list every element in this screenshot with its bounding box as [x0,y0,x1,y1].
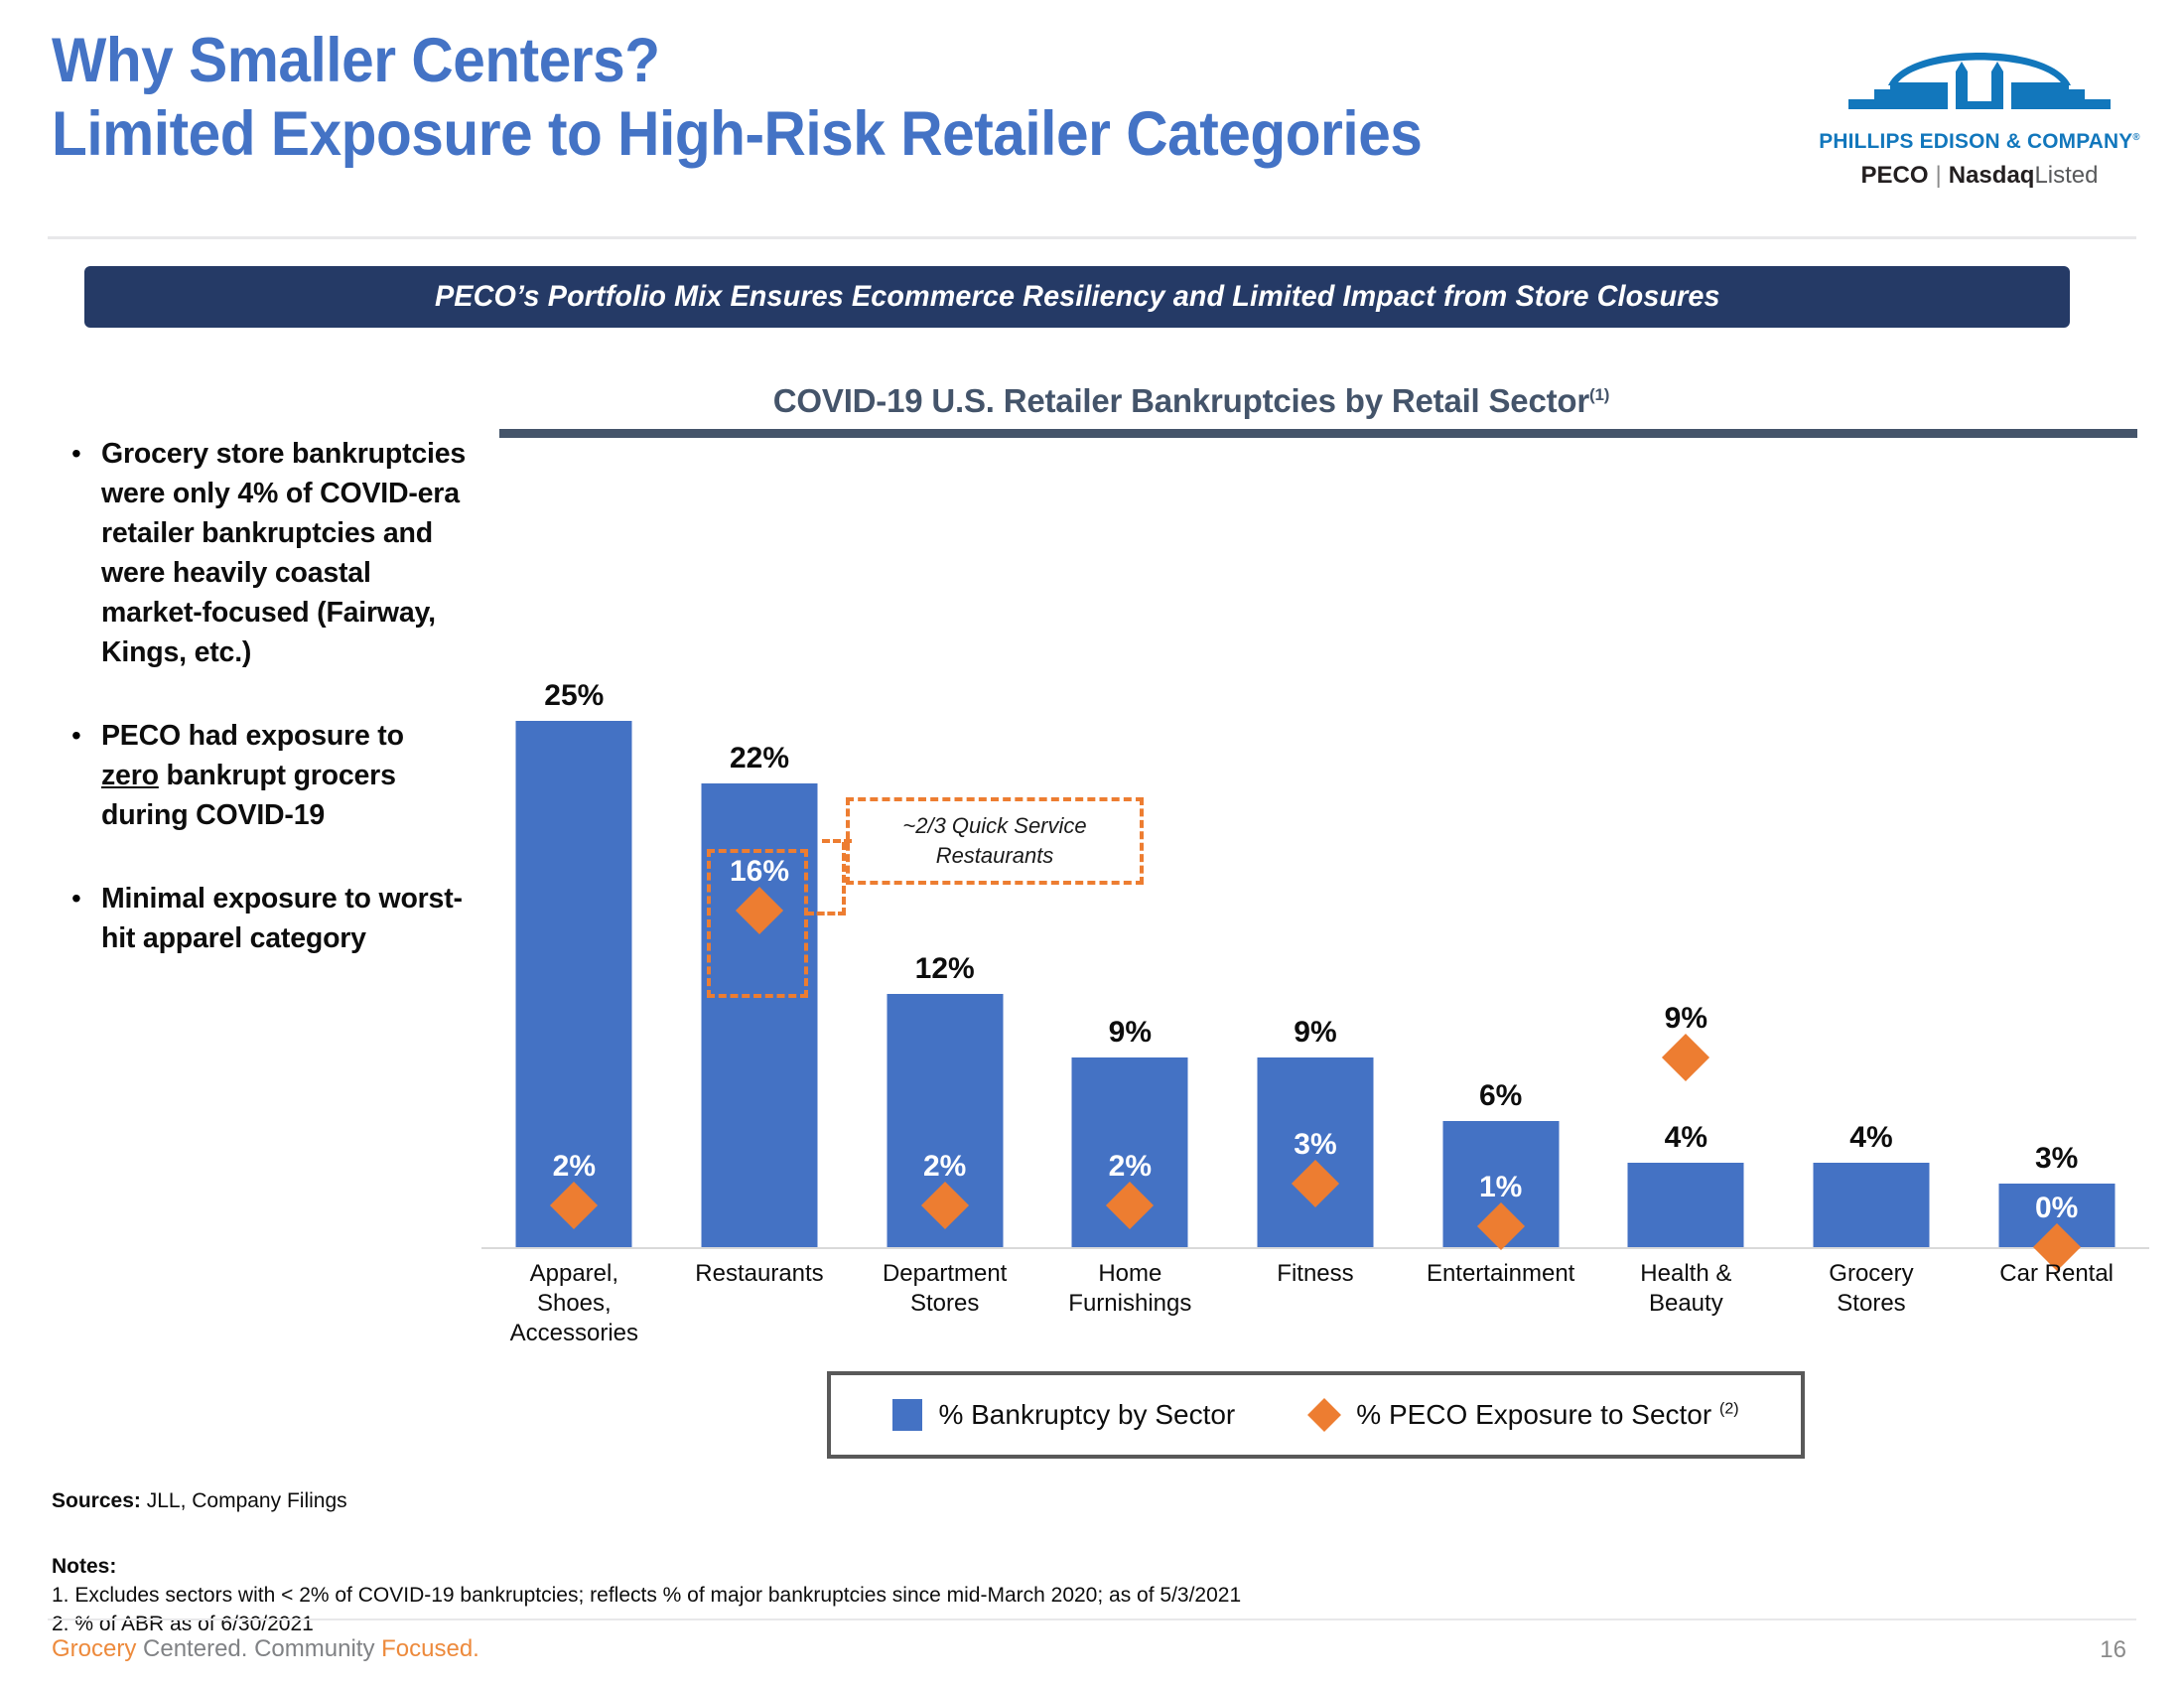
bar-value-label: 6% [1479,1079,1522,1113]
chart-column: 4% [1779,447,1965,1247]
bullet-text-3: Minimal exposure to worst-hit apparel ca… [101,879,469,958]
annotation-callout: ~2/3 Quick Service Restaurants [846,797,1144,885]
logo-wordmark-text: PHILLIPS EDISON & COMPANY [1819,129,2132,153]
sources-line: Sources: JLL, Company Filings [52,1489,347,1513]
exposure-value-label: 1% [1479,1171,1522,1204]
x-axis-category-labels: Apparel,Shoes,AccessoriesRestaurantsDepa… [481,1259,2149,1368]
chart-title: COVID-19 U.S. Retailer Bankruptcies by R… [496,382,1886,420]
annotation-connector-segment-1 [806,912,846,915]
chart-column: 22%16% [667,447,853,1247]
x-axis-category-label: GroceryStores [1779,1259,1965,1319]
exposure-value-label: 2% [1109,1150,1152,1184]
bar-value-label: 4% [1849,1121,1892,1155]
legend-label-peco-text: % PECO Exposure to Sector [1356,1399,1711,1430]
x-axis-category-label: Health &Beauty [1593,1259,1779,1319]
chart-column: 25%2% [481,447,667,1247]
exposure-value-label: 3% [1294,1128,1336,1162]
legend-item-peco-exposure: % PECO Exposure to Sector (2) [1308,1399,1738,1431]
bullet-point-icon: • [71,716,101,835]
bullet-text-1: Grocery store bankruptcies were only 4% … [101,434,469,672]
sources-value: JLL, Company Filings [141,1489,347,1512]
bar-value-label: 9% [1109,1016,1152,1050]
chart-column: 6%1% [1408,447,1593,1247]
legend-label-peco-exposure: % PECO Exposure to Sector (2) [1356,1399,1738,1431]
registered-mark-icon: ® [2132,132,2139,143]
bullet-text-2-emphasis: zero [101,760,159,791]
chart-title-text: COVID-19 U.S. Retailer Bankruptcies by R… [773,382,1589,419]
footer-tagline: Grocery Centered. Community Focused. [52,1635,479,1663]
exposure-value-label: 0% [2035,1192,2078,1225]
logo-ticker-line: PECO|NasdaqListed [1811,162,2148,190]
exposure-value-label: 9% [1665,1002,1707,1036]
chart-plot-area: 25%2%22%16%12%2%9%2%9%3%6%1%4%9%4%3%0% [481,445,2149,1249]
logo-exchange-listed: Listed [2034,162,2098,189]
bar-value-label: 9% [1294,1016,1336,1050]
x-axis-category-label: HomeFurnishings [1037,1259,1223,1319]
chart-title-footnote: (1) [1589,385,1609,404]
list-item: • PECO had exposure to zero bankrupt gro… [71,716,469,835]
x-axis-line [481,1247,2149,1249]
slide: Why Smaller Centers? Limited Exposure to… [0,0,2184,1688]
notes-label: Notes: [52,1555,116,1578]
logo-ticker: PECO [1861,162,1929,189]
chart-column: 4%9% [1593,447,1779,1247]
footer-divider [48,1618,2136,1620]
company-logo: PHILLIPS EDISON & COMPANY® PECO|NasdaqLi… [1811,28,2148,195]
list-item: • Minimal exposure to worst-hit apparel … [71,879,469,958]
note-1: 1. Excludes sectors with < 2% of COVID-1… [52,1584,1241,1607]
bar-value-label: 3% [2035,1142,2078,1176]
chart-title-divider [499,429,2137,438]
bar-value-label: 12% [915,952,975,986]
annotation-callout-text: ~2/3 Quick Service Restaurants [902,811,1086,871]
tagline-word-1: Grocery [52,1635,136,1662]
x-axis-category-label: DepartmentStores [852,1259,1037,1319]
legend-diamond-icon [1307,1398,1341,1432]
subtitle-banner-text: PECO’s Portfolio Mix Ensures Ecommerce R… [435,280,1720,314]
legend-label-peco-footnote: (2) [1719,1401,1739,1418]
logo-separator: | [1936,162,1942,189]
bar [1628,1163,1744,1247]
tagline-word-2: Centered. Community [136,1635,381,1662]
bar-value-label: 25% [544,679,604,713]
x-axis-category-label: Fitness [1223,1259,1409,1289]
bar-value-label: 22% [730,742,789,775]
page-title: Why Smaller Centers? Limited Exposure to… [52,24,1839,172]
exposure-value-label: 2% [923,1150,966,1184]
header-divider [48,236,2136,239]
notes-block: Notes: 1. Excludes sectors with < 2% of … [52,1552,1241,1638]
bullet-list: • Grocery store bankruptcies were only 4… [71,434,469,1002]
logo-exchange: Nasdaq [1949,162,2035,189]
bar [1813,1163,1929,1247]
annotation-line-1: ~2/3 Quick Service [902,813,1086,838]
page-number: 16 [2100,1636,2126,1664]
logo-wordmark: PHILLIPS EDISON & COMPANY® [1816,129,2143,154]
x-axis-category-label: Entertainment [1408,1259,1593,1289]
legend-item-bankruptcy: % Bankruptcy by Sector [892,1399,1235,1431]
bullet-point-icon: • [71,434,101,672]
list-item: • Grocery store bankruptcies were only 4… [71,434,469,672]
storefront-icon [1831,28,2128,127]
legend-square-icon [892,1399,922,1431]
chart-legend: % Bankruptcy by Sector % PECO Exposure t… [827,1371,1805,1459]
bullet-text-2-before: PECO had exposure to [101,720,404,752]
legend-label-bankruptcy: % Bankruptcy by Sector [938,1399,1235,1431]
exposure-value-label: 2% [553,1150,596,1184]
page-title-line-1: Why Smaller Centers? [52,24,1713,97]
chart-column: 3%0% [1964,447,2149,1247]
chart-column: 9%3% [1223,447,1409,1247]
x-axis-category-label: Apparel,Shoes,Accessories [481,1259,667,1348]
annotation-line-2: Restaurants [936,843,1054,868]
bar-value-label: 4% [1665,1121,1707,1155]
x-axis-category-label: Restaurants [667,1259,853,1289]
bullet-text-2: PECO had exposure to zero bankrupt groce… [101,716,469,835]
annotation-highlight-box [707,849,808,998]
exposure-marker [1662,1034,1709,1081]
sources-label: Sources: [52,1489,141,1512]
x-axis-category-label: Car Rental [1964,1259,2149,1289]
note-2: 2. % of ABR as of 6/30/2021 [52,1613,314,1635]
tagline-word-3: Focused. [381,1635,479,1662]
subtitle-banner: PECO’s Portfolio Mix Ensures Ecommerce R… [84,266,2070,328]
page-title-line-2: Limited Exposure to High-Risk Retailer C… [52,97,1713,171]
bullet-point-icon: • [71,879,101,958]
